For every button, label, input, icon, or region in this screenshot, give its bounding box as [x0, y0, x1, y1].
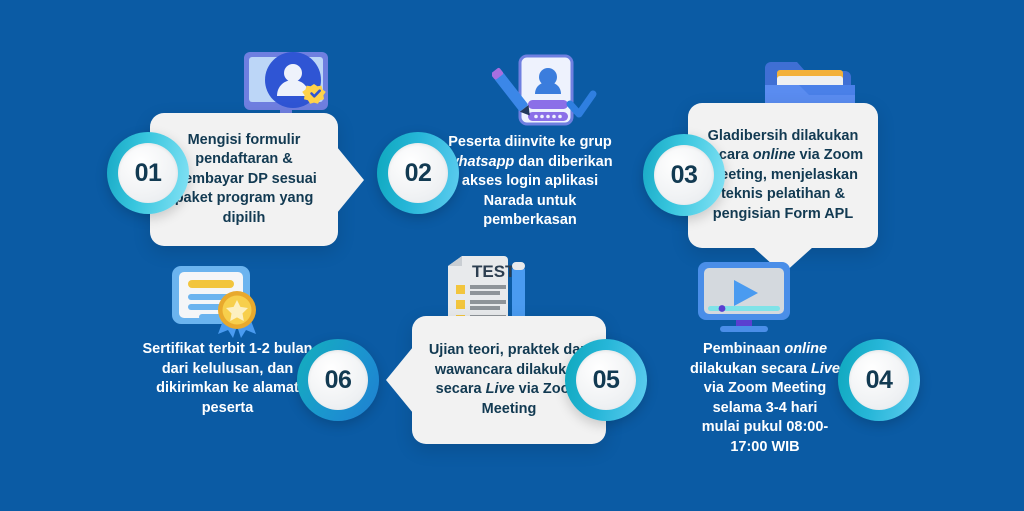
circle-inner-06: 06	[308, 350, 368, 410]
video-player-monitor-icon	[692, 258, 800, 343]
circle-inner-04: 04	[849, 350, 909, 410]
step-number-circle-06: 06	[297, 339, 379, 421]
circle-inner-01: 01	[118, 143, 178, 203]
circle-inner-02: 02	[388, 143, 448, 203]
process-flow-infographic: Mengisi formulir pendaftaran & membayar …	[0, 0, 1024, 511]
step-number-circle-04: 04	[838, 339, 920, 421]
circle-inner-03: 03	[654, 145, 714, 205]
step-number-circle-02: 02	[377, 132, 459, 214]
form-signup-pencil-icon	[492, 50, 600, 140]
step-number-02: 02	[405, 159, 432, 188]
step-number-circle-01: 01	[107, 132, 189, 214]
step-number-05: 05	[593, 366, 620, 395]
card-arrow-right	[337, 147, 364, 213]
step-text-06: Sertifikat terbit 1-2 bulan dari kelulus…	[140, 340, 315, 418]
card-arrow-left	[386, 347, 413, 413]
step-text-02: Peserta diinvite ke grupwhatsapp dan dib…	[430, 133, 630, 231]
circle-inner-05: 05	[576, 350, 636, 410]
step-number-04: 04	[866, 366, 893, 395]
step-text-04: Pembinaan onlinedilakukan secara Livevia…	[680, 340, 850, 457]
step-number-circle-05: 05	[565, 339, 647, 421]
step-number-06: 06	[325, 366, 352, 395]
step-number-01: 01	[135, 159, 162, 188]
step-number-circle-03: 03	[643, 134, 725, 216]
svg-text:TEST: TEST	[472, 262, 516, 281]
certificate-medal-icon	[162, 258, 270, 343]
step-number-03: 03	[671, 161, 698, 190]
